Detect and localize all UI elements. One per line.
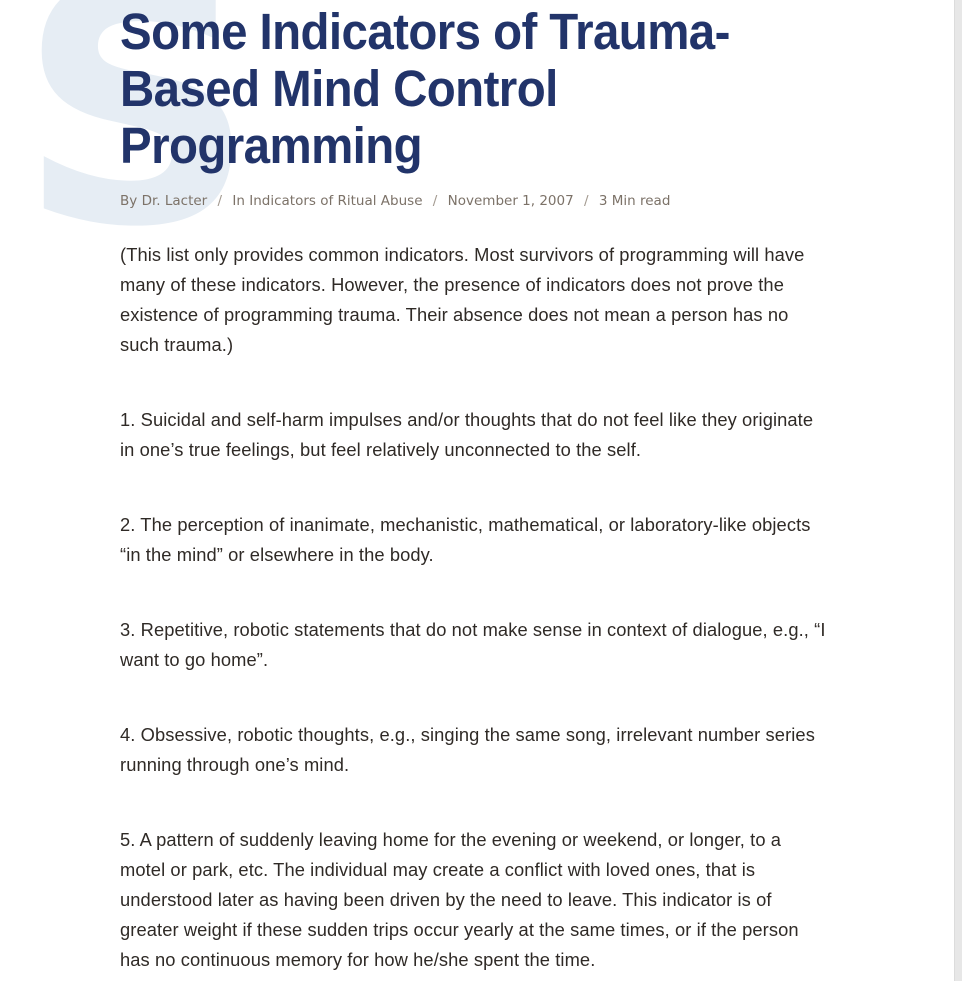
- article-header: Some Indicators of Trauma-Based Mind Con…: [120, 0, 840, 210]
- byline-date: November 1, 2007: [448, 193, 574, 209]
- byline-category-prefix: In: [232, 193, 245, 209]
- page-title: Some Indicators of Trauma-Based Mind Con…: [120, 3, 790, 174]
- byline-separator-1: /: [212, 193, 229, 209]
- paragraph-intro: (This list only provides common indicato…: [120, 240, 831, 360]
- list-item-5: 5. A pattern of suddenly leaving home fo…: [120, 825, 831, 975]
- byline-separator-2: /: [427, 193, 444, 209]
- byline-read-time: 3 Min read: [599, 193, 671, 209]
- vertical-scrollbar[interactable]: [954, 0, 962, 981]
- byline-author-prefix: By: [120, 193, 137, 209]
- list-item-1: 1. Suicidal and self-harm impulses and/o…: [120, 405, 831, 465]
- list-item-4: 4. Obsessive, robotic thoughts, e.g., si…: [120, 720, 831, 780]
- article-body: S Some Indicators of Trauma-Based Mind C…: [0, 0, 940, 981]
- byline-category[interactable]: Indicators of Ritual Abuse: [249, 193, 422, 209]
- list-item-2: 2. The perception of inanimate, mechanis…: [120, 510, 831, 570]
- article-page: S Some Indicators of Trauma-Based Mind C…: [0, 0, 962, 981]
- byline-separator-3: /: [578, 193, 595, 209]
- byline-author[interactable]: Dr. Lacter: [142, 193, 208, 209]
- article-byline: By Dr. Lacter / In Indicators of Ritual …: [120, 192, 840, 210]
- article-content: (This list only provides common indicato…: [120, 240, 842, 981]
- list-item-3: 3. Repetitive, robotic statements that d…: [120, 615, 831, 675]
